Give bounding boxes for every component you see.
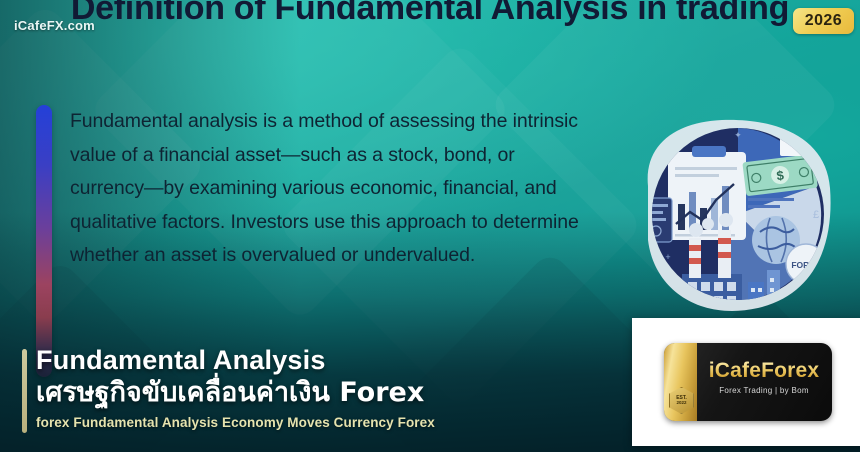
caption-accent-bar [22, 349, 27, 433]
est-year: 2022 [676, 401, 686, 406]
site-watermark: iCafeFX.com [14, 18, 95, 33]
forex-infographic-illustration: $ FOREX [630, 112, 842, 318]
social-share-card: Definition of Fundamental Analysis in tr… [0, 0, 860, 452]
gradient-accent-bar [36, 105, 52, 377]
svg-text:✦: ✦ [734, 130, 742, 140]
year-badge: 2026 [793, 8, 854, 34]
brand-logo-card[interactable]: EST. 2022 iCafeForex Forex Trading | by … [632, 318, 860, 446]
overlay-tags: forex Fundamental Analysis Economy Moves… [36, 415, 435, 430]
page-title: Definition of Fundamental Analysis in tr… [60, 0, 800, 28]
overlay-title-en: Fundamental Analysis [36, 345, 326, 375]
overlay-title: Fundamental Analysis เศรษฐกิจขับเคลื่อนค… [36, 345, 435, 408]
logo-text-block: iCafeForex Forex Trading | by Bom [704, 359, 824, 395]
pound-symbol: £ [813, 209, 819, 221]
est-hex-badge: EST. 2022 [669, 387, 694, 414]
logo-panel: EST. 2022 iCafeForex Forex Trading | by … [664, 343, 832, 421]
logo-gold-bar: EST. 2022 [664, 343, 697, 421]
svg-text:+: + [665, 252, 670, 262]
overlay-caption: Fundamental Analysis เศรษฐกิจขับเคลื่อนค… [36, 345, 435, 430]
article-body: Fundamental analysis is a method of asse… [36, 105, 581, 377]
brand-tagline: Forex Trading | by Bom [704, 386, 824, 395]
overlay-title-th: เศรษฐกิจขับเคลื่อนค่าเงิน Forex [36, 377, 435, 408]
brand-name: iCafeForex [704, 359, 824, 383]
article-paragraph: Fundamental analysis is a method of asse… [70, 105, 581, 377]
